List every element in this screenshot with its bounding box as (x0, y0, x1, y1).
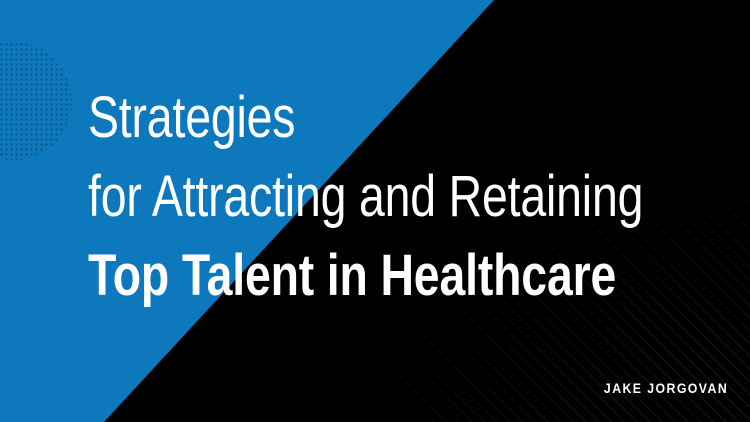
headline-block: Strategies for Attracting and Retaining … (88, 88, 688, 305)
headline-line-2: for Attracting and Retaining (88, 167, 568, 226)
headline-line-1: Strategies (88, 88, 568, 147)
title-slide: Strategies for Attracting and Retaining … (0, 0, 750, 422)
brand-wordmark: JAKE JORGOVAN (604, 380, 728, 396)
headline-line-3: Top Talent in Healthcare (88, 246, 568, 305)
